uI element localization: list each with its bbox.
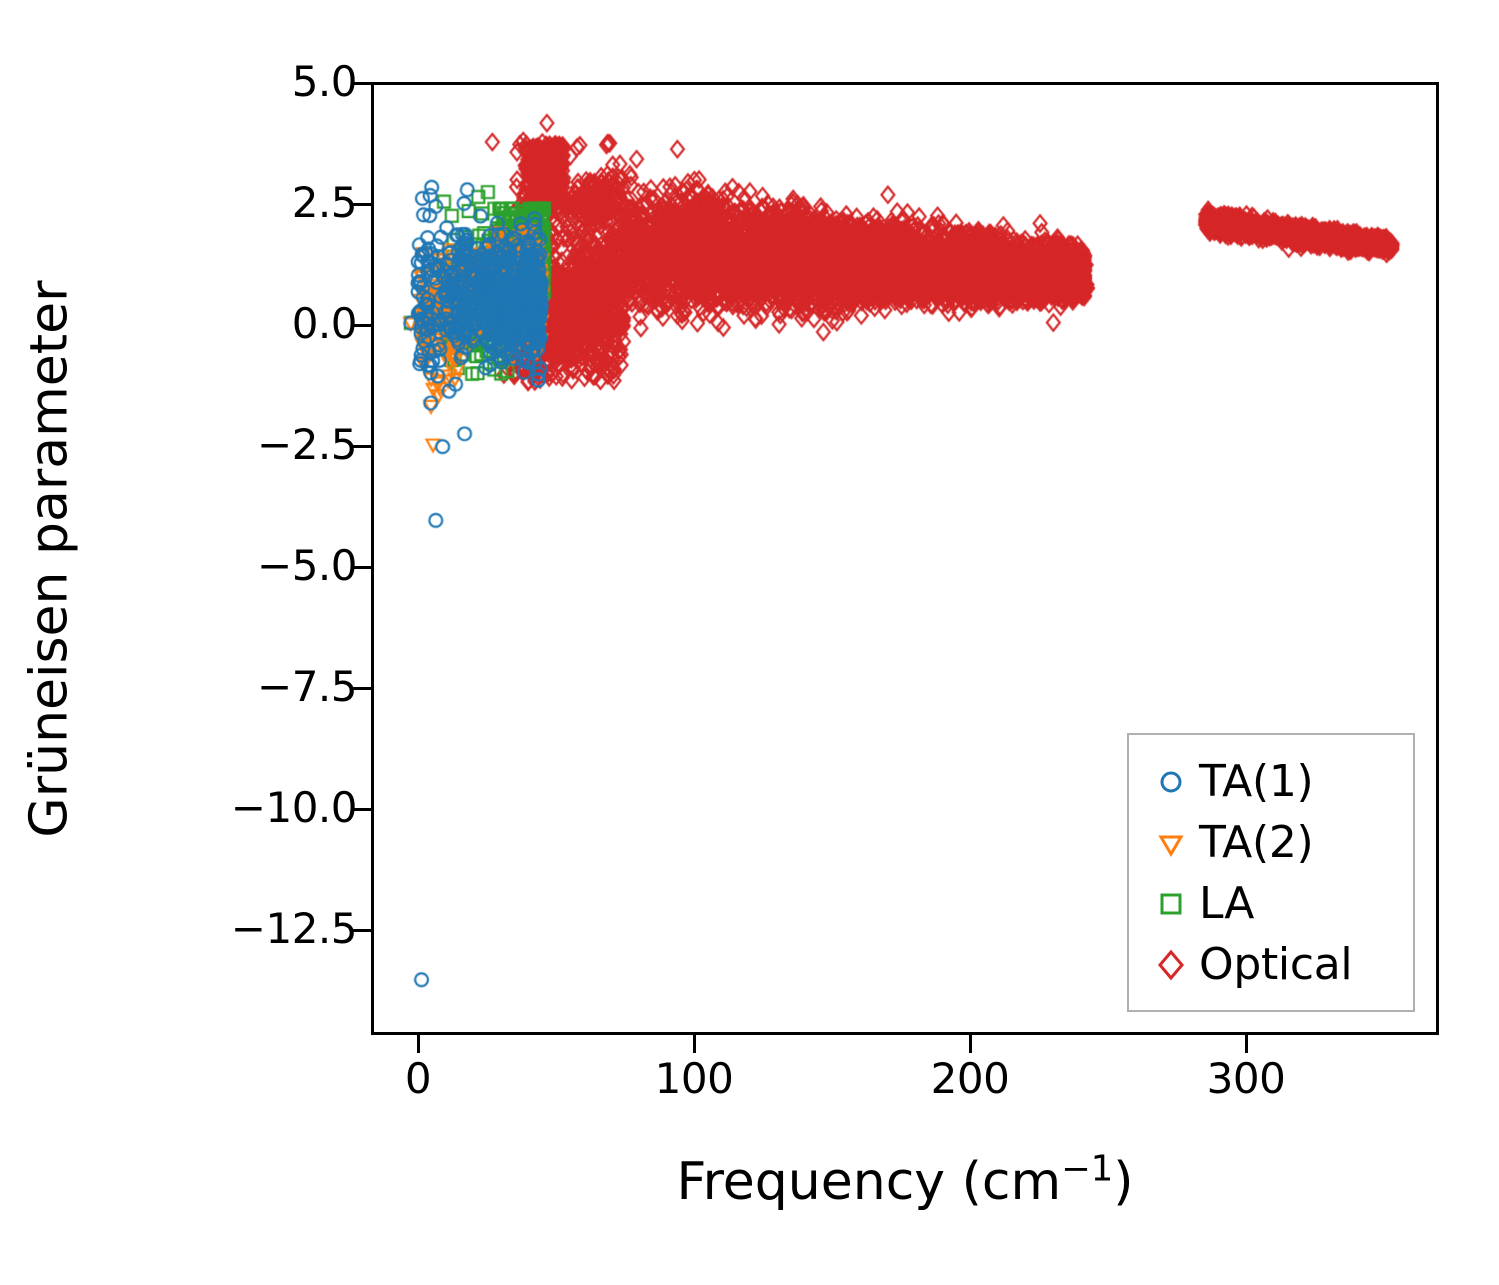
legend-box[interactable]: TA(1) TA(2) LA Optic (1127, 733, 1415, 1012)
diamond-open-icon (1143, 948, 1199, 982)
xtick-mark (693, 1035, 696, 1053)
legend-label-ta1: TA(1) (1199, 758, 1313, 806)
xtick-mark (417, 1035, 420, 1053)
xtick-label: 100 (655, 1058, 734, 1100)
legend-label-optical: Optical (1199, 941, 1352, 989)
x-axis-label-tail: ) (1113, 1152, 1133, 1212)
ytick-label: −10.0 (231, 787, 357, 829)
xtick-mark (1245, 1035, 1248, 1053)
y-axis-label-container: Grüneisen parameter (0, 0, 100, 1117)
y-axis-label: Grüneisen parameter (20, 280, 80, 837)
legend-label-la: LA (1199, 880, 1254, 928)
square-open-icon (1143, 889, 1199, 919)
legend-entry-la[interactable]: LA (1143, 874, 1399, 935)
ytick-label: −12.5 (231, 908, 357, 950)
xtick-label: 200 (931, 1058, 1010, 1100)
ytick-label: −5.0 (257, 545, 357, 587)
legend-entry-ta2[interactable]: TA(2) (1143, 812, 1399, 873)
ytick-label: 0.0 (292, 303, 357, 345)
figure-canvas: 5.0 2.5 0.0 −2.5 −5.0 −7.5 −10.0 −12.5 0… (0, 0, 1499, 1285)
legend-entry-ta1[interactable]: TA(1) (1143, 751, 1399, 812)
legend-entry-optical[interactable]: Optical (1143, 935, 1399, 996)
x-axis-label-text: Frequency (cm (676, 1152, 1061, 1212)
xtick-mark (969, 1035, 972, 1053)
ytick-label: 2.5 (292, 182, 357, 224)
x-axis-label: Frequency (cm−1) (371, 1152, 1439, 1212)
xtick-label: 300 (1207, 1058, 1286, 1100)
x-axis-label-exponent: −1 (1061, 1149, 1113, 1190)
triangle-down-open-icon (1143, 828, 1199, 858)
ytick-label: −2.5 (257, 424, 357, 466)
ytick-label: −7.5 (257, 666, 357, 708)
legend-label-ta2: TA(2) (1199, 819, 1313, 867)
circle-open-icon (1143, 767, 1199, 797)
ytick-label: 5.0 (292, 61, 357, 103)
xtick-label: 0 (405, 1058, 431, 1100)
